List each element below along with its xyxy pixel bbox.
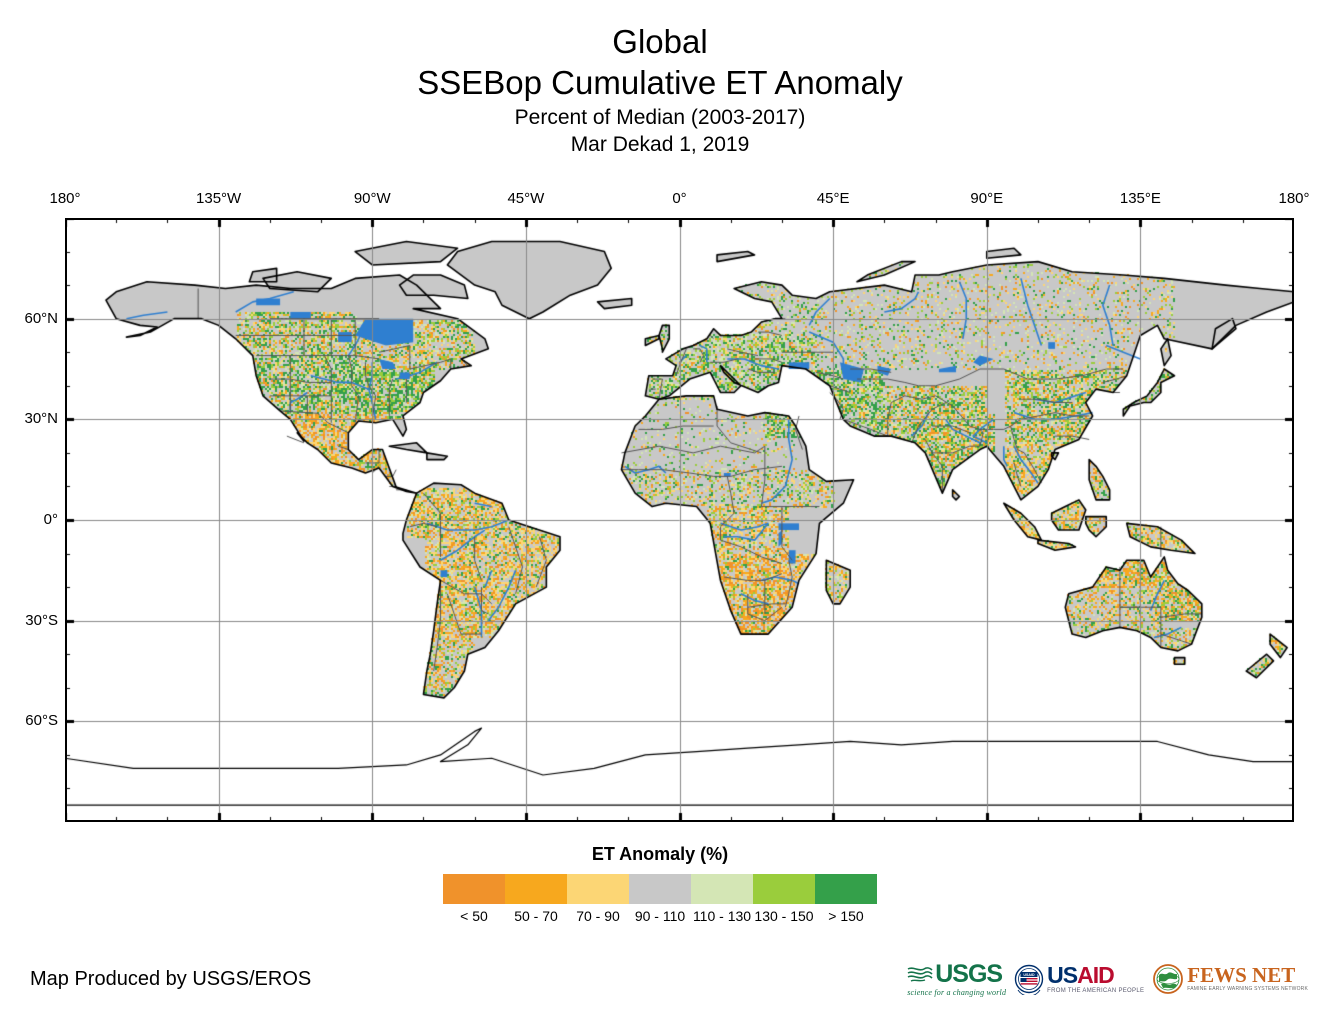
legend-swatch-5 bbox=[753, 874, 815, 904]
lon-tick-label-5: 45°E bbox=[817, 190, 850, 208]
usgs-tagline: science for a changing world bbox=[907, 988, 1006, 997]
legend: ET Anomaly (%) < 5050 - 7070 - 9090 - 11… bbox=[0, 842, 1320, 925]
legend-swatch-0 bbox=[443, 874, 505, 904]
page-title-line2: SSEBop Cumulative ET Anomaly bbox=[0, 62, 1320, 104]
fewsnet-wordmark: FEWS NET bbox=[1187, 965, 1295, 986]
lon-tick-label-2: 90°W bbox=[354, 190, 391, 208]
usaid-tagline: FROM THE AMERICAN PEOPLE bbox=[1047, 987, 1144, 995]
usaid-wordmark-us: US bbox=[1047, 962, 1077, 988]
legend-title: ET Anomaly (%) bbox=[0, 842, 1320, 866]
usaid-seal-icon: USAID bbox=[1014, 963, 1044, 995]
legend-swatch-4 bbox=[691, 874, 753, 904]
legend-swatch-1 bbox=[505, 874, 567, 904]
lat-tick-label-0: 60°N bbox=[24, 310, 58, 328]
usgs-logo: USGS science for a changing world bbox=[907, 958, 1006, 1000]
legend-label-3: 90 - 110 bbox=[629, 907, 691, 925]
legend-label-4: 110 - 130 bbox=[691, 907, 753, 925]
legend-swatch-6 bbox=[815, 874, 877, 904]
title-block: Global SSEBop Cumulative ET Anomaly Perc… bbox=[0, 22, 1320, 158]
usgs-wordmark: USGS bbox=[935, 962, 1002, 987]
page-subtitle-period: Percent of Median (2003-2017) bbox=[0, 104, 1320, 131]
lon-tick-label-8: 180° bbox=[1278, 190, 1309, 208]
lon-tick-label-4: 0° bbox=[672, 190, 686, 208]
fewsnet-globe-icon bbox=[1152, 963, 1184, 995]
map-raster-canvas[interactable] bbox=[65, 218, 1294, 822]
lat-tick-label-2: 0° bbox=[44, 511, 58, 529]
legend-label-5: 130 - 150 bbox=[753, 907, 815, 925]
legend-labels: < 5050 - 7070 - 9090 - 110110 - 130130 -… bbox=[443, 907, 877, 925]
legend-label-1: 50 - 70 bbox=[505, 907, 567, 925]
legend-label-2: 70 - 90 bbox=[567, 907, 629, 925]
lat-tick-label-4: 60°S bbox=[25, 712, 58, 730]
fewsnet-logo: FEWS NET FAMINE EARLY WARNING SYSTEMS NE… bbox=[1152, 958, 1308, 1000]
lon-tick-label-0: 180° bbox=[49, 190, 80, 208]
legend-swatch-2 bbox=[567, 874, 629, 904]
legend-color-strip bbox=[443, 874, 877, 904]
legend-label-6: > 150 bbox=[815, 907, 877, 925]
legend-swatch-3 bbox=[629, 874, 691, 904]
agency-logos: USGS science for a changing world USAID … bbox=[907, 958, 1308, 1000]
page-title-line1: Global bbox=[0, 22, 1320, 62]
svg-text:USAID: USAID bbox=[1024, 973, 1036, 977]
usaid-logo: USAID USAID FROM THE AMERICAN PEOPLE bbox=[1014, 958, 1144, 1000]
usgs-wave-icon bbox=[907, 965, 933, 983]
lon-tick-label-3: 45°W bbox=[507, 190, 544, 208]
legend-label-0: < 50 bbox=[443, 907, 505, 925]
lon-tick-label-7: 135°E bbox=[1120, 190, 1161, 208]
lat-tick-label-3: 30°S bbox=[25, 612, 58, 630]
lon-tick-label-1: 135°W bbox=[196, 190, 241, 208]
world-map[interactable] bbox=[65, 218, 1294, 822]
page-subtitle-date: Mar Dekad 1, 2019 bbox=[0, 131, 1320, 158]
fewsnet-tagline: FAMINE EARLY WARNING SYSTEMS NETWORK bbox=[1187, 986, 1308, 993]
footer-credit: Map Produced by USGS/EROS bbox=[30, 966, 311, 992]
usaid-wordmark-aid: AID bbox=[1077, 962, 1114, 988]
lat-tick-label-1: 30°N bbox=[24, 410, 58, 428]
lon-tick-label-6: 90°E bbox=[970, 190, 1003, 208]
